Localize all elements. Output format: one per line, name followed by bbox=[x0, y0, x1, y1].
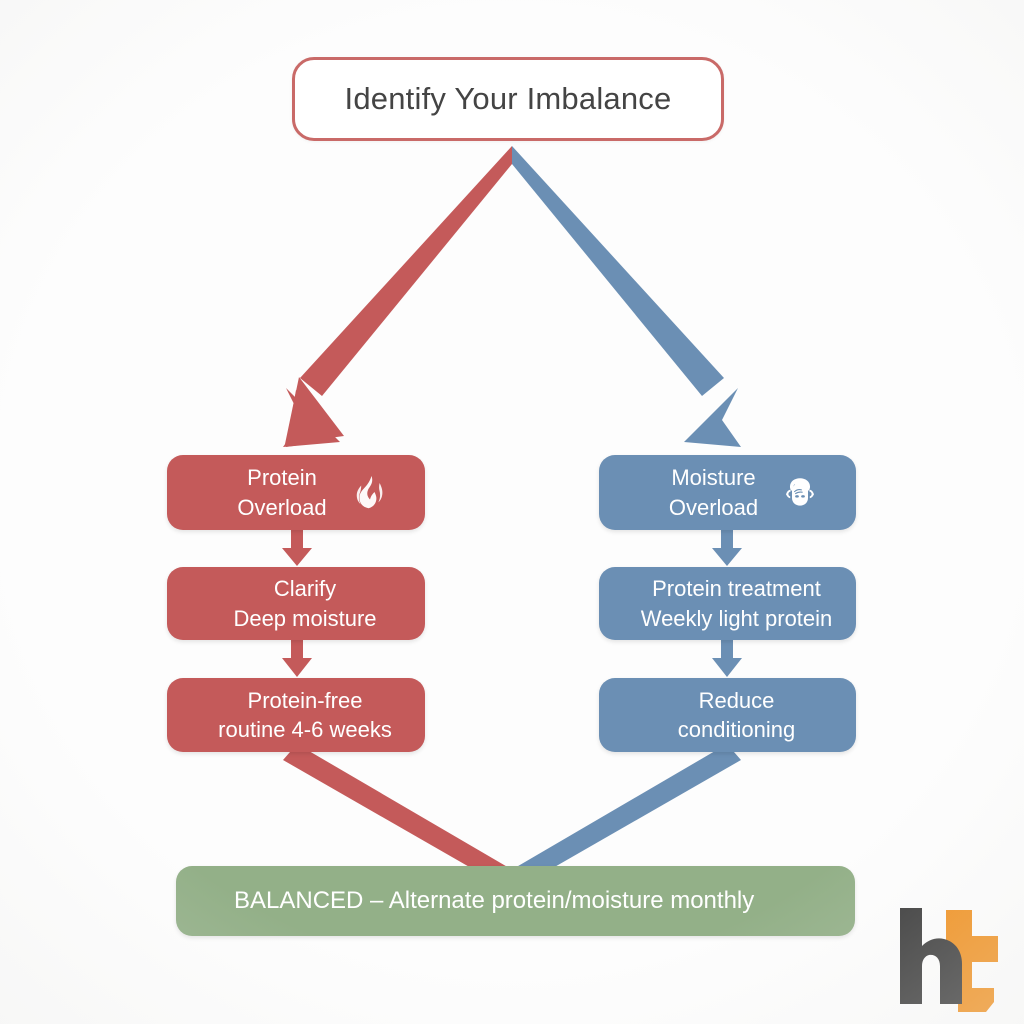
brand-logo-icon bbox=[890, 900, 1002, 1012]
hair-face-icon bbox=[780, 473, 820, 513]
balanced-node-label: BALANCED – Alternate protein/moisture mo… bbox=[234, 887, 754, 915]
edge-protein-step1-step2 bbox=[282, 530, 312, 566]
node-identify-your-imbalance[interactable]: Identify Your Imbalance bbox=[292, 57, 724, 141]
edge-moisture-step1-step2 bbox=[712, 530, 742, 566]
edge-moisture-to-balanced bbox=[513, 744, 741, 884]
edge-protein-to-balanced bbox=[283, 744, 511, 884]
edge-root-to-protein bbox=[283, 146, 512, 447]
edge-moisture-step2-step3 bbox=[712, 640, 742, 677]
node-protein-treatment[interactable]: Protein treatment Weekly light protein bbox=[599, 567, 856, 640]
node-balanced[interactable]: BALANCED – Alternate protein/moisture mo… bbox=[176, 866, 855, 936]
node-clarify-deep-moisture[interactable]: Clarify Deep moisture bbox=[167, 567, 425, 640]
protein-free-routine-label: Protein-free routine 4-6 weeks bbox=[218, 686, 392, 744]
clarify-deep-moisture-label: Clarify Deep moisture bbox=[233, 574, 376, 632]
edge-root-to-moisture bbox=[512, 146, 741, 447]
node-moisture-overload[interactable]: Moisture Overload bbox=[599, 455, 856, 530]
protein-treatment-label: Protein treatment Weekly light protein bbox=[641, 574, 833, 632]
reduce-conditioning-label: Reduce conditioning bbox=[678, 686, 795, 744]
diagram-canvas: Identify Your Imbalance Protein Overload… bbox=[0, 0, 1024, 1024]
moisture-overload-label: Moisture Overload bbox=[669, 463, 758, 521]
edge-protein-step2-step3 bbox=[282, 640, 312, 677]
protein-overload-label: Protein Overload bbox=[237, 463, 326, 521]
flame-icon bbox=[349, 473, 389, 513]
node-protein-free-routine[interactable]: Protein-free routine 4-6 weeks bbox=[167, 678, 425, 752]
node-reduce-conditioning[interactable]: Reduce conditioning bbox=[599, 678, 856, 752]
node-protein-overload[interactable]: Protein Overload bbox=[167, 455, 425, 530]
root-node-label: Identify Your Imbalance bbox=[345, 81, 672, 117]
